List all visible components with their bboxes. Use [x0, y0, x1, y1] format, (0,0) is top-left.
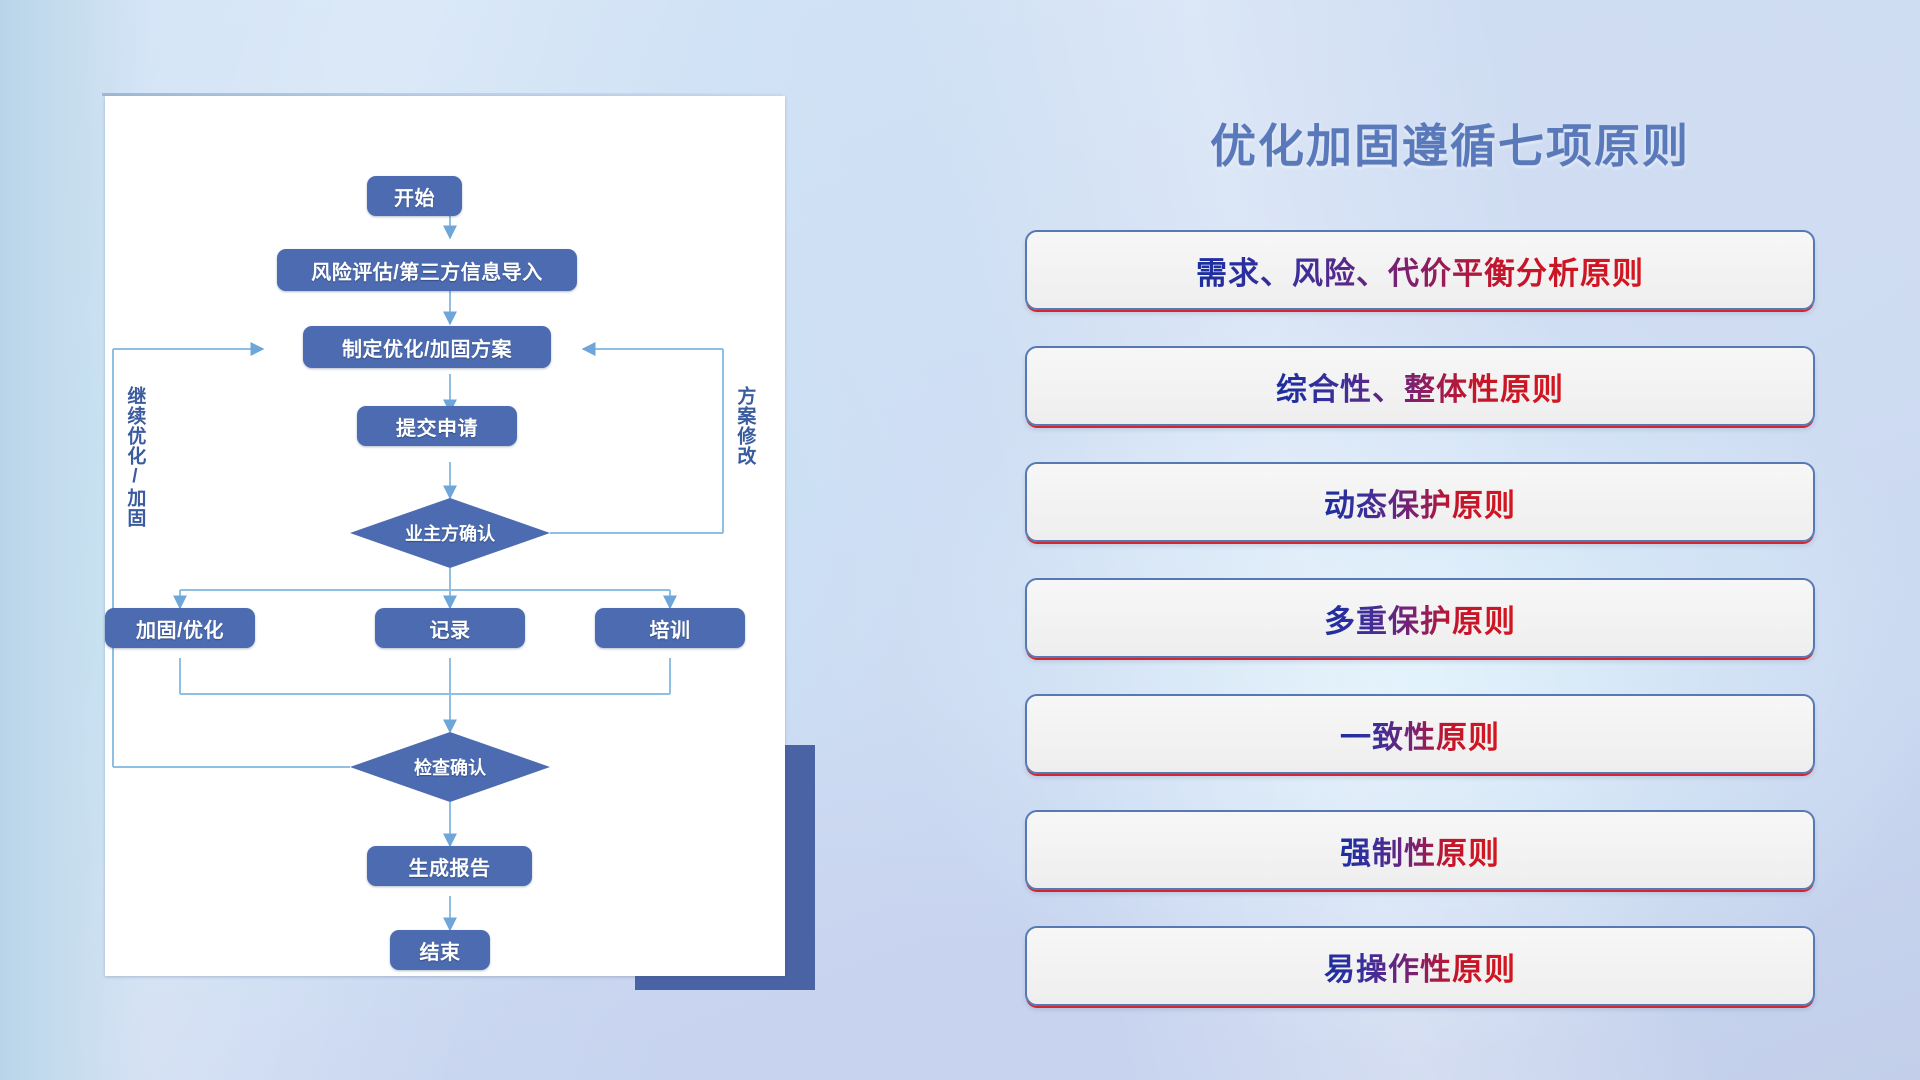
principles-list: 需求、风险、代价平衡分析原则 综合性、整体性原则 动态保护原则 多重保护原则 一… — [1025, 230, 1815, 1042]
flowchart-card: 开始 风险评估/第三方信息导入 制定优化/加固方案 提交申请 业主方确认 加固/… — [105, 96, 785, 976]
principle-item[interactable]: 易操作性原则 — [1025, 926, 1815, 1006]
flow-edge-label-left-loop: 继续优化/加固 — [125, 386, 144, 528]
principle-item[interactable]: 强制性原则 — [1025, 810, 1815, 890]
flow-decision-check-confirm[interactable]: 检查确认 — [350, 732, 550, 802]
principle-label: 动态保护原则 — [1324, 480, 1516, 525]
principle-label: 需求、风险、代价平衡分析原则 — [1196, 248, 1644, 293]
flow-node-label: 加固/优化 — [136, 614, 224, 643]
right-panel-title: 优化加固遵循七项原则 — [1100, 110, 1800, 176]
principle-label: 易操作性原则 — [1324, 944, 1516, 989]
flow-edge-label-right-loop: 方案修改 — [735, 386, 754, 466]
principle-item[interactable]: 动态保护原则 — [1025, 462, 1815, 542]
flow-node-label: 风险评估/第三方信息导入 — [311, 256, 543, 285]
flow-node-label: 提交申请 — [396, 412, 478, 441]
flow-node-submit-application[interactable]: 提交申请 — [357, 406, 517, 446]
flow-node-risk-assessment[interactable]: 风险评估/第三方信息导入 — [277, 249, 577, 291]
flow-node-plan[interactable]: 制定优化/加固方案 — [303, 326, 551, 368]
flow-node-label: 制定优化/加固方案 — [342, 333, 512, 362]
principle-item[interactable]: 多重保护原则 — [1025, 578, 1815, 658]
flow-node-reinforce-optimize[interactable]: 加固/优化 — [105, 608, 255, 648]
flow-node-record[interactable]: 记录 — [375, 608, 525, 648]
flow-node-label: 生成报告 — [409, 852, 491, 881]
principle-label: 强制性原则 — [1340, 828, 1500, 873]
flow-node-label: 开始 — [394, 182, 435, 211]
flow-node-label: 业主方确认 — [405, 520, 495, 546]
flow-decision-owner-confirm[interactable]: 业主方确认 — [350, 498, 550, 568]
flow-node-generate-report[interactable]: 生成报告 — [367, 846, 532, 886]
principle-item[interactable]: 一致性原则 — [1025, 694, 1815, 774]
flow-node-label: 记录 — [430, 614, 471, 643]
flow-node-end[interactable]: 结束 — [390, 930, 490, 970]
flow-node-start[interactable]: 开始 — [367, 176, 462, 216]
principle-label: 多重保护原则 — [1324, 596, 1516, 641]
flow-node-label: 结束 — [420, 936, 461, 965]
flow-node-label: 检查确认 — [414, 754, 486, 780]
flow-node-training[interactable]: 培训 — [595, 608, 745, 648]
principle-item[interactable]: 需求、风险、代价平衡分析原则 — [1025, 230, 1815, 310]
principle-label: 综合性、整体性原则 — [1276, 364, 1564, 409]
principle-label: 一致性原则 — [1340, 712, 1500, 757]
principle-item[interactable]: 综合性、整体性原则 — [1025, 346, 1815, 426]
flow-node-label: 培训 — [650, 614, 691, 643]
